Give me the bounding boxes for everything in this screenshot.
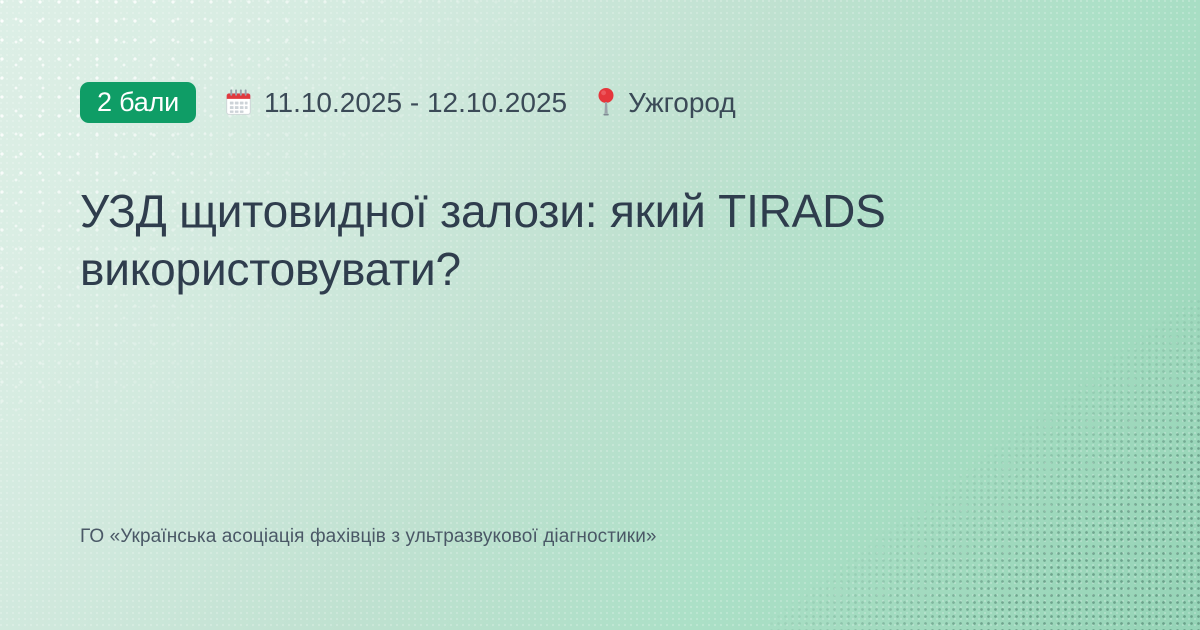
event-meta-row: 2 бали — [80, 80, 736, 124]
event-location: Ужгород — [595, 87, 736, 117]
page-title: УЗД щитовидної залози: який TIRADS викор… — [80, 182, 1115, 299]
organizer-label: ГО «Українська асоціація фахівців з ульт… — [80, 525, 657, 550]
card-content: 2 бали — [0, 0, 1200, 630]
event-location-text: Ужгород — [628, 89, 736, 117]
credits-badge: 2 бали — [80, 82, 196, 123]
calendar-icon — [224, 88, 253, 117]
event-date: 11.10.2025 - 12.10.2025 — [224, 88, 567, 117]
event-date-text: 11.10.2025 - 12.10.2025 — [264, 89, 567, 117]
location-pin-icon — [595, 87, 617, 117]
event-card: 2 бали — [0, 0, 1200, 630]
